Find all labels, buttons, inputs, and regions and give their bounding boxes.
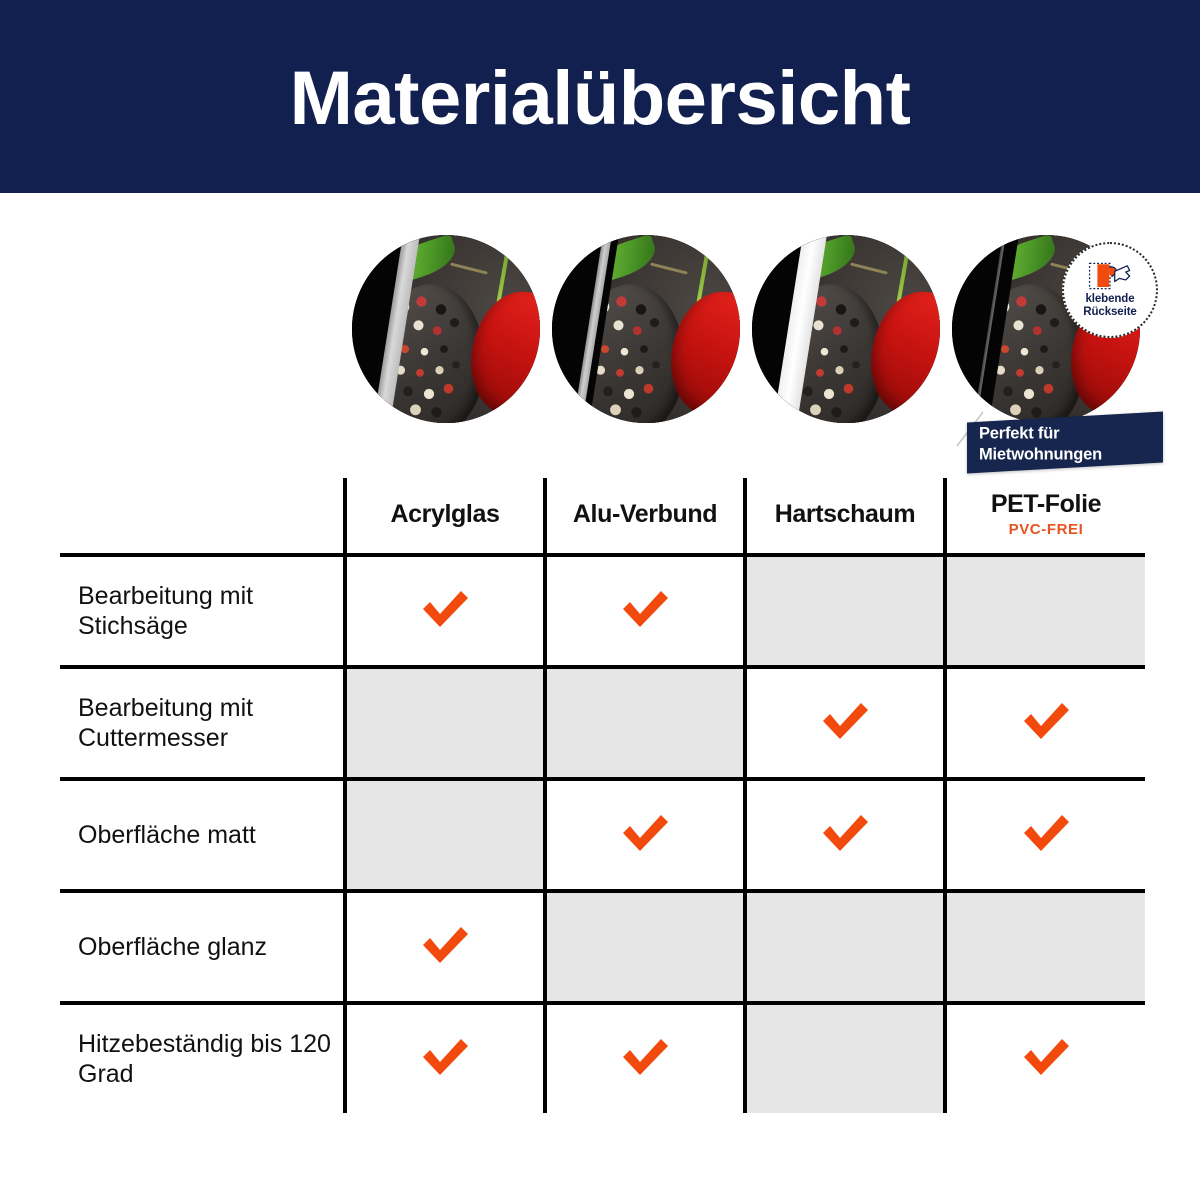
- cell-matt-hartschaum: [745, 779, 945, 891]
- page-title: Materialübersicht: [290, 61, 911, 137]
- table-row: Hitzebeständig bis 120 Grad: [60, 1003, 1145, 1113]
- cell-glanz-hartschaum: [745, 891, 945, 1003]
- cell-hitze-pet-folie: [945, 1003, 1145, 1113]
- badge-line-1: klebende: [1085, 293, 1134, 305]
- cell-matt-acrylglas: [345, 779, 545, 891]
- column-header-alu-verbund: Alu-Verbund: [545, 478, 745, 555]
- table-corner-cell: [60, 478, 345, 555]
- material-comparison-table: Acrylglas Alu-Verbund Hartschaum PET-Fol…: [60, 478, 1145, 1113]
- check-icon: [817, 812, 873, 854]
- check-icon: [1018, 812, 1074, 854]
- cell-stichsaege-acrylglas: [345, 555, 545, 667]
- check-icon: [817, 700, 873, 742]
- hartschaum-product-image: [752, 235, 940, 423]
- column-header-hartschaum: Hartschaum: [745, 478, 945, 555]
- material-comparison-table-wrapper: Acrylglas Alu-Verbund Hartschaum PET-Fol…: [60, 478, 1145, 1113]
- row-label-oberflaeche-glanz: Oberfläche glanz: [60, 891, 345, 1003]
- column-title: Acrylglas: [351, 501, 539, 527]
- table-body: Bearbeitung mit Stichsäge Bearbeitung mi…: [60, 555, 1145, 1113]
- cell-hitze-hartschaum: [745, 1003, 945, 1113]
- cell-glanz-alu-verbund: [545, 891, 745, 1003]
- cell-glanz-acrylglas: [345, 891, 545, 1003]
- cell-stichsaege-alu-verbund: [545, 555, 745, 667]
- column-title: Hartschaum: [751, 501, 939, 527]
- peel-sticker-hand-icon: [1088, 261, 1132, 291]
- cell-hitze-acrylglas: [345, 1003, 545, 1113]
- alu-verbund-product-image: [552, 235, 740, 423]
- cell-stichsaege-pet-folie: [945, 555, 1145, 667]
- cell-cuttermesser-alu-verbund: [545, 667, 745, 779]
- acrylglas-product-image: [352, 235, 540, 423]
- check-icon: [417, 924, 473, 966]
- table-row: Bearbeitung mit Stichsäge: [60, 555, 1145, 667]
- cell-matt-alu-verbund: [545, 779, 745, 891]
- cell-glanz-pet-folie: [945, 891, 1145, 1003]
- row-label-hitzebestaendig: Hitzebeständig bis 120 Grad: [60, 1003, 345, 1113]
- table-row: Oberfläche glanz: [60, 891, 1145, 1003]
- table-header-row: Acrylglas Alu-Verbund Hartschaum PET-Fol…: [60, 478, 1145, 555]
- cell-cuttermesser-hartschaum: [745, 667, 945, 779]
- check-icon: [617, 588, 673, 630]
- cell-cuttermesser-pet-folie: [945, 667, 1145, 779]
- ribbon-line-2: Mietwohnungen: [979, 445, 1102, 463]
- row-label-oberflaeche-matt: Oberfläche matt: [60, 779, 345, 891]
- check-icon: [1018, 1036, 1074, 1078]
- column-header-pet-folie: PET-Folie PVC-FREI: [945, 478, 1145, 555]
- check-icon: [417, 1036, 473, 1078]
- check-icon: [617, 1036, 673, 1078]
- check-icon: [417, 588, 473, 630]
- page-header-band: Materialübersicht: [0, 0, 1200, 193]
- table-row: Bearbeitung mit Cuttermesser: [60, 667, 1145, 779]
- perfekt-fuer-mietwohnungen-ribbon: Perfekt für Mietwohnungen: [967, 412, 1163, 474]
- product-image-row: [0, 233, 1200, 433]
- column-title: PET-Folie: [951, 491, 1141, 517]
- cell-cuttermesser-acrylglas: [345, 667, 545, 779]
- klebende-rueckseite-badge: klebende Rückseite: [1062, 242, 1158, 338]
- column-header-acrylglas: Acrylglas: [345, 478, 545, 555]
- cell-hitze-alu-verbund: [545, 1003, 745, 1113]
- badge-line-2: Rückseite: [1083, 306, 1136, 318]
- column-title: Alu-Verbund: [551, 501, 739, 527]
- row-label-cuttermesser: Bearbeitung mit Cuttermesser: [60, 667, 345, 779]
- cell-matt-pet-folie: [945, 779, 1145, 891]
- row-label-stichsaege: Bearbeitung mit Stichsäge: [60, 555, 345, 667]
- cell-stichsaege-hartschaum: [745, 555, 945, 667]
- pvc-frei-badge: PVC-FREI: [951, 521, 1141, 538]
- ribbon-line-1: Perfekt für: [979, 424, 1059, 442]
- check-icon: [1018, 700, 1074, 742]
- table-row: Oberfläche matt: [60, 779, 1145, 891]
- check-icon: [617, 812, 673, 854]
- klebende-rueckseite-label: klebende Rückseite: [1083, 293, 1136, 319]
- ribbon-label: Perfekt für Mietwohnungen: [979, 423, 1102, 465]
